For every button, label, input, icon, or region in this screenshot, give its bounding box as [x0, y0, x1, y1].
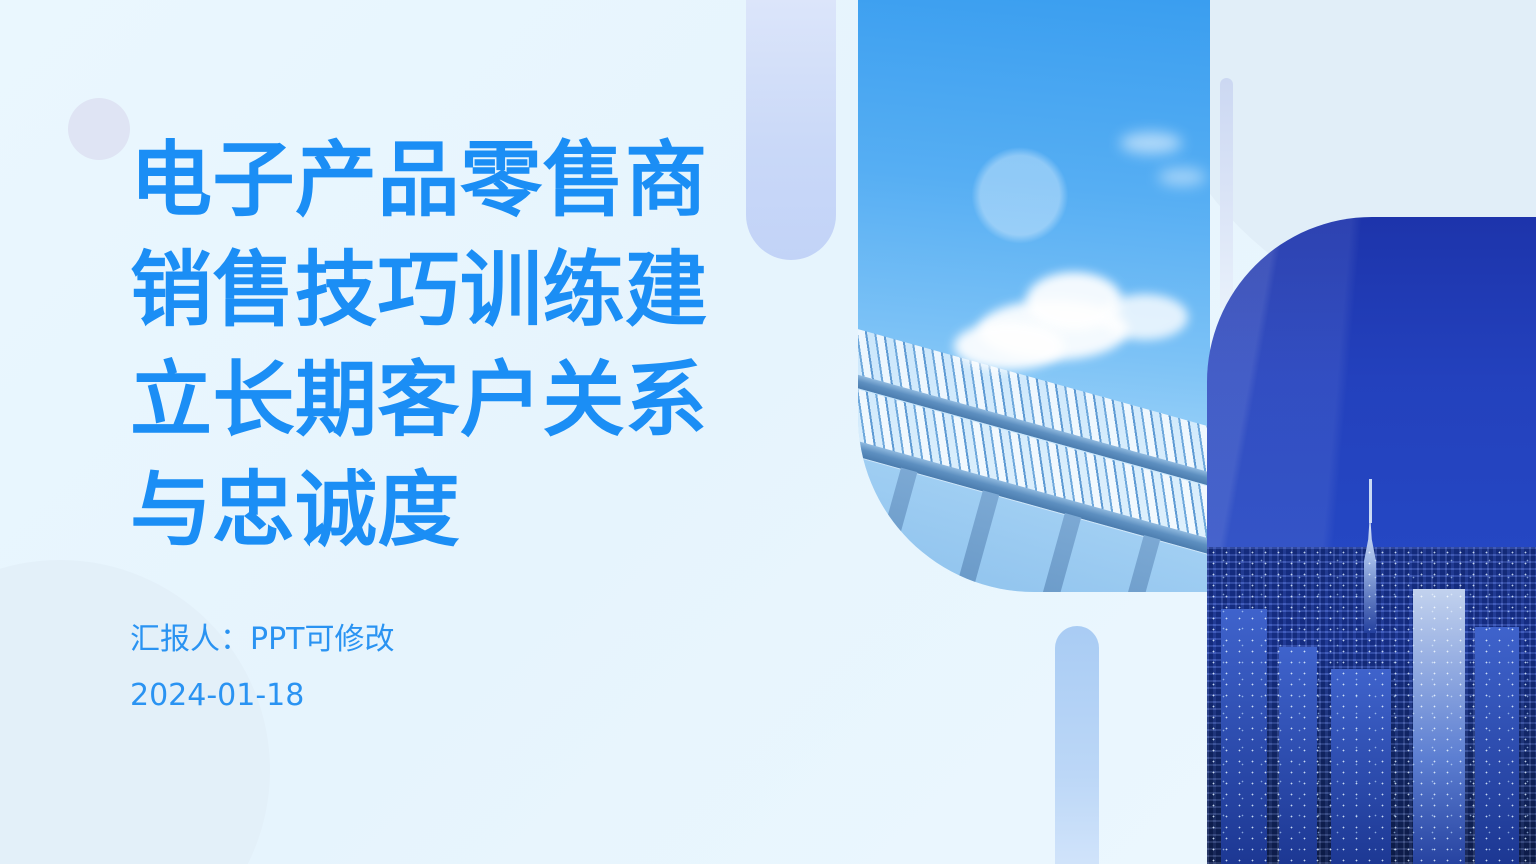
- slide-meta: 汇报人：PPT可修改 2024-01-18: [130, 612, 750, 724]
- page-title: 电子产品零售商 销售技巧训练建 立长期客户关系 与忠诚度: [130, 126, 750, 566]
- cloud-puff: [1102, 294, 1188, 340]
- date-label: 2024-01-18: [130, 668, 750, 724]
- slide-text-content: 电子产品零售商 销售技巧训练建 立长期客户关系 与忠诚度 汇报人：PPT可修改 …: [130, 126, 750, 724]
- pill-wide-decoration: [746, 0, 836, 260]
- night-sky-gradient: [1207, 217, 1536, 577]
- cloud-puff: [954, 322, 1064, 370]
- cloud-wisp: [1120, 132, 1182, 154]
- city-lights-texture: [1207, 547, 1536, 864]
- presentation-slide: 电子产品零售商 销售技巧训练建 立长期客户关系 与忠诚度 汇报人：PPT可修改 …: [0, 0, 1536, 864]
- circle-small-top-left-decoration: [68, 98, 130, 160]
- cloud-wisp: [1158, 168, 1206, 186]
- pill-bottom-decoration: [1055, 626, 1099, 864]
- bridge-sky-photo: [858, 0, 1210, 592]
- city-skyline-night-photo: [1207, 217, 1536, 864]
- empire-state-spire: [1369, 479, 1372, 523]
- presenter-label: 汇报人：PPT可修改: [130, 612, 750, 668]
